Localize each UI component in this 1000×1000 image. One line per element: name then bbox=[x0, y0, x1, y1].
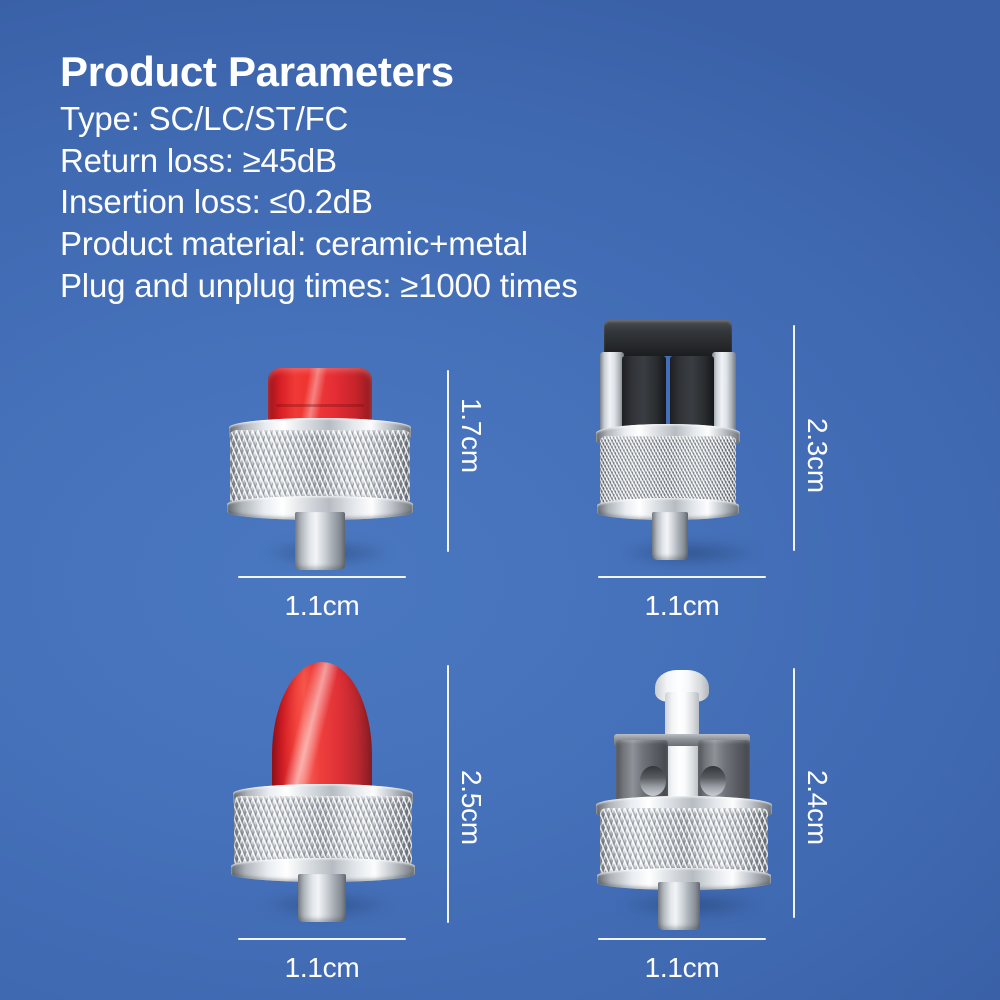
lc-latch-clip bbox=[604, 320, 732, 356]
width-dimension-line bbox=[598, 938, 766, 940]
width-dimension-line bbox=[238, 576, 406, 578]
metal-stem bbox=[652, 512, 688, 560]
spec-line-insertion-loss: Insertion loss: ≤0.2dB bbox=[60, 181, 940, 223]
height-dimension-label: 2.5cm bbox=[455, 770, 487, 845]
product-parameters-page: Product Parameters Type: SC/LC/ST/FC Ret… bbox=[0, 0, 1000, 1000]
page-title: Product Parameters bbox=[60, 48, 940, 96]
width-dimension-label: 1.1cm bbox=[598, 590, 766, 622]
spec-line-type: Type: SC/LC/ST/FC bbox=[60, 98, 940, 140]
lc-body-left bbox=[622, 356, 666, 434]
width-dimension-label: 1.1cm bbox=[598, 952, 766, 984]
metal-stem bbox=[298, 874, 346, 922]
height-dimension-label: 2.4cm bbox=[801, 770, 833, 845]
height-dimension-line bbox=[447, 665, 449, 923]
metal-stem bbox=[295, 512, 345, 570]
bracket-notch-right bbox=[700, 766, 726, 796]
bracket-notch-left bbox=[640, 766, 666, 796]
lc-sleeve-left bbox=[600, 352, 624, 432]
spec-line-plug-times: Plug and unplug times: ≥1000 times bbox=[60, 265, 940, 307]
width-dimension-label: 1.1cm bbox=[238, 590, 406, 622]
height-dimension-line bbox=[793, 668, 795, 918]
height-dimension-label: 1.7cm bbox=[455, 398, 487, 473]
drop-shadow bbox=[620, 540, 760, 566]
spec-line-material: Product material: ceramic+metal bbox=[60, 223, 940, 265]
lc-sleeve-right bbox=[712, 352, 736, 432]
lc-body-right bbox=[670, 356, 714, 434]
spec-line-return-loss: Return loss: ≥45dB bbox=[60, 140, 940, 182]
width-dimension-label: 1.1cm bbox=[238, 952, 406, 984]
metal-stem bbox=[658, 882, 700, 930]
width-dimension-line bbox=[238, 938, 406, 940]
height-dimension-label: 2.3cm bbox=[801, 418, 833, 493]
height-dimension-line bbox=[447, 370, 449, 552]
width-dimension-line bbox=[598, 576, 766, 578]
height-dimension-line bbox=[793, 325, 795, 551]
spec-text-block: Product Parameters Type: SC/LC/ST/FC Ret… bbox=[60, 48, 940, 307]
ceramic-ferrule bbox=[665, 692, 699, 810]
